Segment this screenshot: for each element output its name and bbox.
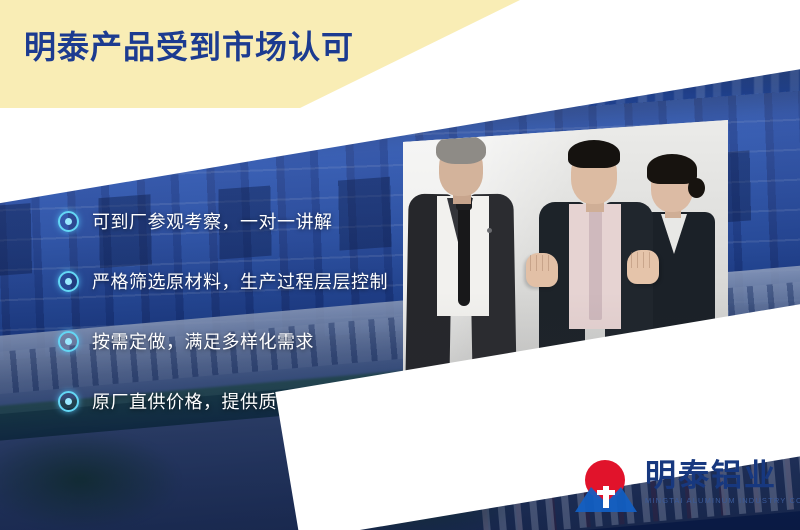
- marketing-banner: 明泰产品受到市场认可 可到厂参观考察，一对一讲解 严格筛选原材料，生产过程层层控…: [0, 0, 800, 530]
- target-icon: [58, 211, 79, 232]
- company-logo: 明泰铝业 MINGTAI ALUMINUM INDUSTRY CO., LTD: [575, 458, 790, 520]
- logo-cross-icon: [603, 486, 609, 508]
- list-item: 可到厂参观考察，一对一讲解: [58, 206, 388, 236]
- list-item-label: 按需定做，满足多样化需求: [92, 328, 314, 354]
- list-item: 按需定做，满足多样化需求: [58, 326, 388, 356]
- target-icon: [58, 391, 79, 412]
- red-sun-blue-mountain-logo-icon: [575, 458, 637, 514]
- list-item: 严格筛选原材料，生产过程层层控制: [58, 266, 388, 296]
- target-icon: [58, 331, 79, 352]
- logo-text-block: 明泰铝业 MINGTAI ALUMINUM INDUSTRY CO., LTD: [645, 458, 800, 505]
- list-item-label: 可到厂参观考察，一对一讲解: [92, 208, 333, 234]
- logo-name-cn: 明泰铝业: [645, 460, 800, 493]
- logo-name-en: MINGTAI ALUMINUM INDUSTRY CO., LTD: [645, 496, 800, 505]
- page-title: 明泰产品受到市场认可: [24, 22, 354, 68]
- target-icon: [58, 271, 79, 292]
- list-item-label: 严格筛选原材料，生产过程层层控制: [92, 268, 388, 294]
